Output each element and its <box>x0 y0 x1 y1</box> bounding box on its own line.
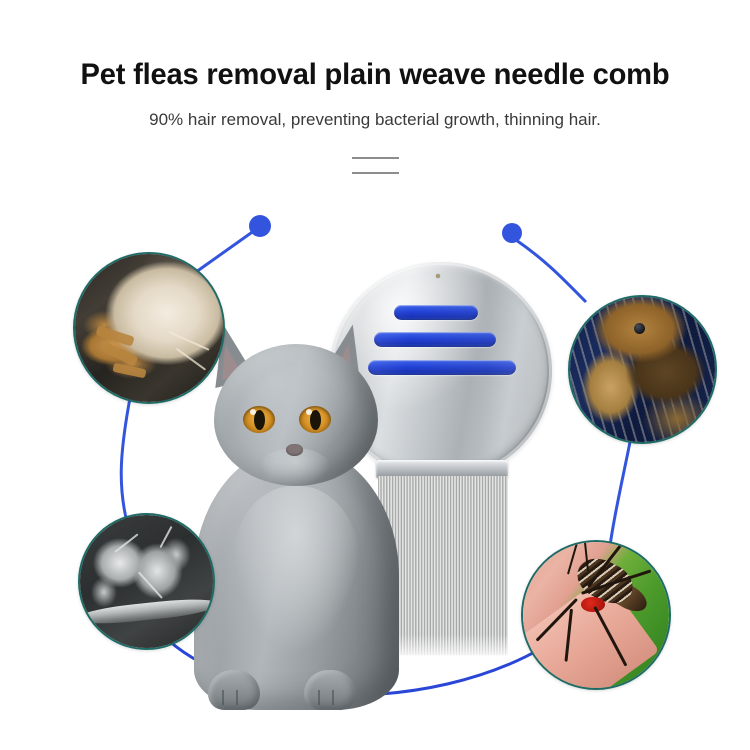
connector-right-arc <box>610 442 630 546</box>
connector-dot-left <box>249 215 271 237</box>
cat-paw-left <box>208 670 260 710</box>
pest-circle-mosquito <box>521 540 671 690</box>
pest-circle-sem-mite <box>78 513 215 650</box>
cat-toe-line <box>222 690 224 705</box>
cat-chest <box>230 486 362 656</box>
cat-paw-right <box>304 670 356 710</box>
connector-dot-right <box>502 223 522 243</box>
cat-toe-line <box>318 690 320 705</box>
rivet-top <box>436 274 440 278</box>
cat-toe-line <box>236 690 238 705</box>
flea-image <box>570 297 715 442</box>
flea-eye <box>634 323 645 334</box>
pest-circle-dust-mite <box>73 252 225 404</box>
product-banner: Pet fleas removal plain weave needle com… <box>0 0 750 750</box>
cat-toe-line <box>332 690 334 705</box>
cat-eye-glint-right <box>306 409 312 415</box>
blood-drop <box>581 597 604 612</box>
pest-circle-flea <box>568 295 717 444</box>
cat-eye-glint-left <box>250 409 256 415</box>
cat-nose <box>286 444 303 456</box>
